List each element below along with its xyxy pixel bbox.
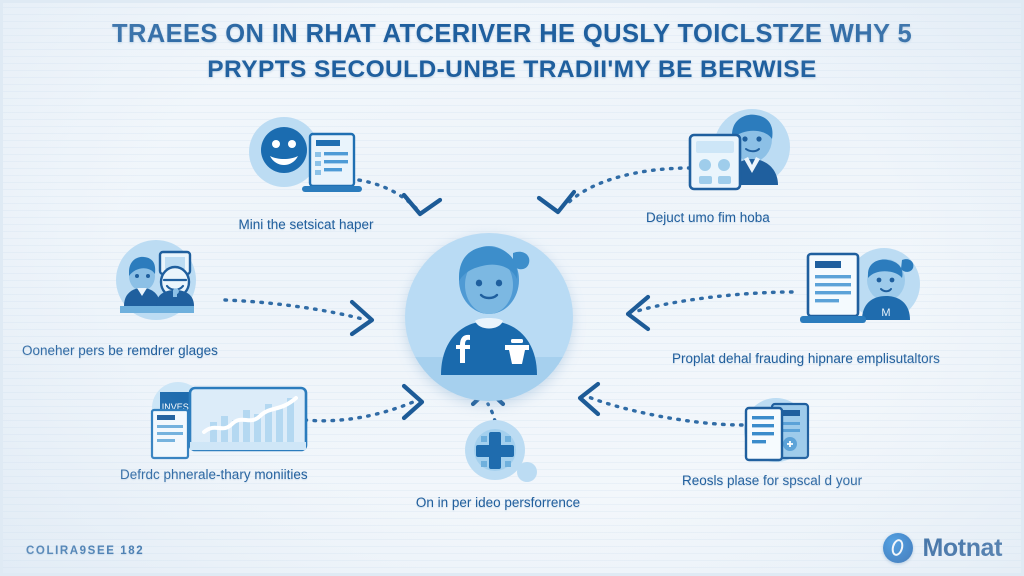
node-bottom-right-label: Reosls plase for spscal d your [682, 472, 942, 489]
arrowhead-top-right [539, 192, 574, 212]
node-top-left[interactable]: Mini the setsicat haper [196, 112, 416, 233]
center-avatar-circle [405, 233, 573, 401]
page-title-line-1: TRAEES ON IN RHAT ATCERIVER HE QUSLY TOI… [72, 16, 952, 52]
node-bottom-right[interactable]: Reosls plase for spscal d your [682, 396, 942, 489]
page-title-line-2: PRYPTS SECOULD-UNBE TRADII'MY BE BERWISE [72, 52, 952, 88]
arrowhead-bottom-right [580, 384, 598, 414]
two-people-monitor-icon [94, 238, 234, 338]
face-document-icon [236, 112, 376, 212]
brand-name: Motnat [922, 534, 1002, 563]
node-middle-right[interactable]: M Proplat dehal frauding hipnare emplisu… [672, 246, 1022, 367]
magnifier-plus-icon [443, 418, 553, 490]
infographic-canvas: TRAEES ON IN RHAT ATCERIVER HE QUSLY TOI… [0, 0, 1024, 576]
center-avatar [405, 233, 573, 401]
person-avatar-icon [405, 233, 573, 401]
node-middle-right-label: Proplat dehal frauding hipnare emplisuta… [672, 350, 1022, 367]
node-top-right-label: Dejuct umo fim hoba [646, 209, 906, 226]
document-person-icon: M [790, 246, 940, 346]
node-bottom-center[interactable]: On in per ideo persforrence [388, 418, 608, 511]
footer-caption: COLIRA9SEE 182 [26, 545, 144, 557]
node-bottom-center-label: On in per ideo persforrence [388, 494, 608, 511]
motnat-logo-icon [883, 533, 913, 563]
page-title: TRAEES ON IN RHAT ATCERIVER HE QUSLY TOI… [72, 16, 952, 88]
brand-logo[interactable]: Motnat [883, 533, 1002, 563]
node-middle-left-label: Ooneher pers be remdrer glages [22, 342, 292, 359]
node-bottom-left-label: Defrdc phnerale-thary moniities [120, 466, 380, 483]
node-top-left-label: Mini the setsicat haper [196, 216, 416, 233]
node-top-right[interactable]: Dejuct umo fim hoba [646, 105, 906, 226]
arrowhead-middle-right [628, 297, 648, 329]
documents-stack-icon [718, 396, 838, 468]
node-bottom-left[interactable]: INVEST [120, 382, 380, 483]
node-middle-left[interactable]: Ooneher pers be remdrer glages [22, 238, 292, 359]
svg-text:M: M [881, 307, 890, 319]
arrowhead-middle-left [352, 302, 372, 334]
chart-monitor-icon: INVEST [134, 382, 314, 462]
person-calculator-icon [666, 105, 806, 205]
